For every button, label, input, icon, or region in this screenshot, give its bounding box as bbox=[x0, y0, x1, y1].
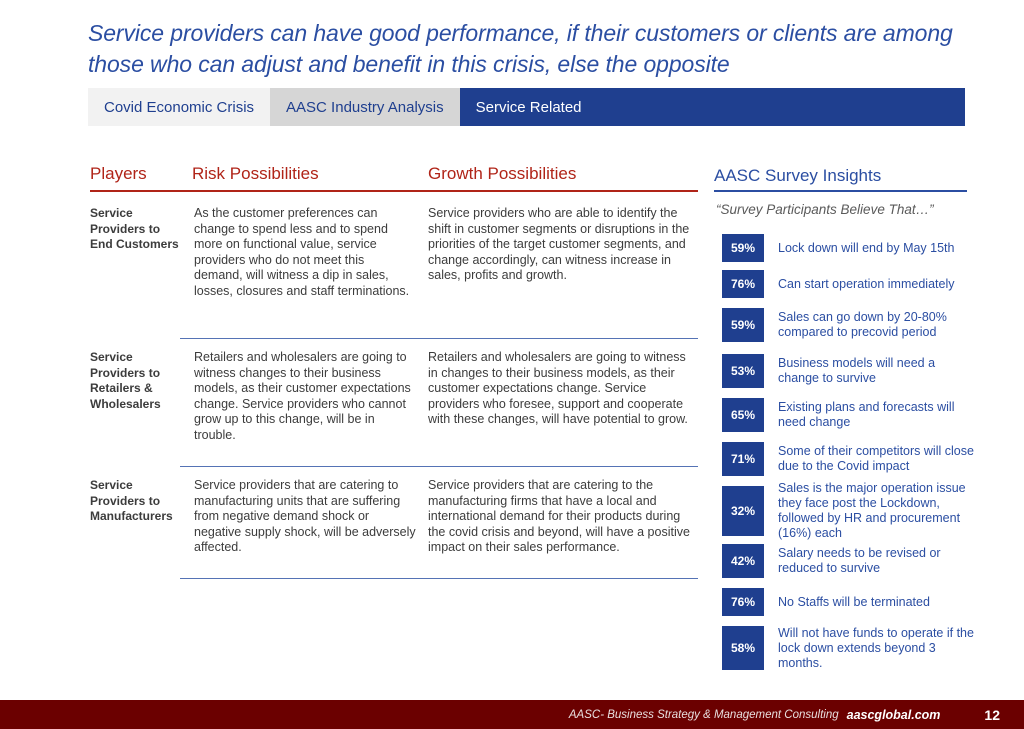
matrix-row-divider-3 bbox=[180, 578, 698, 579]
matrix-row-divider-1 bbox=[180, 338, 698, 339]
matrix-header-divider bbox=[90, 190, 698, 192]
matrix-row-player-2: Service Providers to Retailers & Wholesa… bbox=[90, 350, 182, 412]
survey-item-7: 32% Sales is the major operation issue t… bbox=[722, 486, 978, 536]
survey-badge-9: 76% bbox=[722, 588, 764, 616]
tab-aasc-industry-analysis[interactable]: AASC Industry Analysis bbox=[270, 88, 460, 126]
slide-title: Service providers can have good performa… bbox=[88, 18, 978, 80]
survey-item-2: 76% Can start operation immediately bbox=[722, 270, 978, 298]
matrix-row-growth-3: Service providers that are catering to t… bbox=[428, 478, 693, 556]
survey-label-8: Salary needs to be revised or reduced to… bbox=[778, 546, 978, 576]
survey-label-2: Can start operation immediately bbox=[778, 277, 978, 292]
survey-panel-subtitle: “Survey Participants Believe That…” bbox=[716, 202, 934, 217]
survey-header-divider bbox=[714, 190, 967, 192]
survey-badge-4: 53% bbox=[722, 354, 764, 388]
survey-item-3: 59% Sales can go down by 20-80% compared… bbox=[722, 308, 978, 342]
survey-item-10: 58% Will not have funds to operate if th… bbox=[722, 626, 978, 670]
survey-badge-7: 32% bbox=[722, 486, 764, 536]
survey-item-6: 71% Some of their competitors will close… bbox=[722, 442, 978, 476]
tab-covid-economic-crisis[interactable]: Covid Economic Crisis bbox=[88, 88, 270, 126]
survey-badge-1: 59% bbox=[722, 234, 764, 262]
survey-label-1: Lock down will end by May 15th bbox=[778, 241, 978, 256]
slide-footer: AASC- Business Strategy & Management Con… bbox=[0, 700, 1024, 729]
footer-brand: aascglobal.com bbox=[847, 708, 941, 722]
column-header-players: Players bbox=[90, 164, 147, 184]
survey-label-3: Sales can go down by 20-80% compared to … bbox=[778, 310, 978, 340]
matrix-row-risk-3: Service providers that are catering to m… bbox=[194, 478, 416, 556]
slide-root: Service providers can have good performa… bbox=[0, 0, 1024, 729]
matrix-row-growth-2: Retailers and wholesalers are going to w… bbox=[428, 350, 693, 428]
tab-service-related[interactable]: Service Related bbox=[460, 88, 965, 126]
footer-tagline: AASC- Business Strategy & Management Con… bbox=[569, 709, 839, 721]
matrix-row-player-1: Service Providers to End Customers bbox=[90, 206, 182, 253]
survey-item-4: 53% Business models will need a change t… bbox=[722, 354, 978, 388]
footer-page-number: 12 bbox=[984, 707, 1000, 723]
survey-label-7: Sales is the major operation issue they … bbox=[778, 481, 978, 541]
survey-label-10: Will not have funds to operate if the lo… bbox=[778, 626, 978, 671]
matrix-row-player-3: Service Providers to Manufacturers bbox=[90, 478, 182, 525]
survey-badge-10: 58% bbox=[722, 626, 764, 670]
tab-bar: Covid Economic Crisis AASC Industry Anal… bbox=[88, 88, 965, 126]
column-header-growth-possibilities: Growth Possibilities bbox=[428, 164, 576, 184]
survey-panel-title: AASC Survey Insights bbox=[714, 166, 881, 186]
matrix-row-risk-1: As the customer preferences can change t… bbox=[194, 206, 416, 299]
survey-item-5: 65% Existing plans and forecasts will ne… bbox=[722, 398, 978, 432]
survey-item-9: 76% No Staffs will be terminated bbox=[722, 588, 978, 616]
survey-item-8: 42% Salary needs to be revised or reduce… bbox=[722, 544, 978, 578]
survey-item-1: 59% Lock down will end by May 15th bbox=[722, 234, 978, 262]
survey-label-6: Some of their competitors will close due… bbox=[778, 444, 978, 474]
matrix-row-growth-1: Service providers who are able to identi… bbox=[428, 206, 693, 284]
survey-label-4: Business models will need a change to su… bbox=[778, 356, 978, 386]
survey-badge-2: 76% bbox=[722, 270, 764, 298]
survey-label-9: No Staffs will be terminated bbox=[778, 595, 978, 610]
survey-badge-6: 71% bbox=[722, 442, 764, 476]
survey-badge-5: 65% bbox=[722, 398, 764, 432]
survey-badge-3: 59% bbox=[722, 308, 764, 342]
survey-badge-8: 42% bbox=[722, 544, 764, 578]
matrix-row-divider-2 bbox=[180, 466, 698, 467]
column-header-risk-possibilities: Risk Possibilities bbox=[192, 164, 319, 184]
matrix-row-risk-2: Retailers and wholesalers are going to w… bbox=[194, 350, 416, 443]
survey-label-5: Existing plans and forecasts will need c… bbox=[778, 400, 978, 430]
